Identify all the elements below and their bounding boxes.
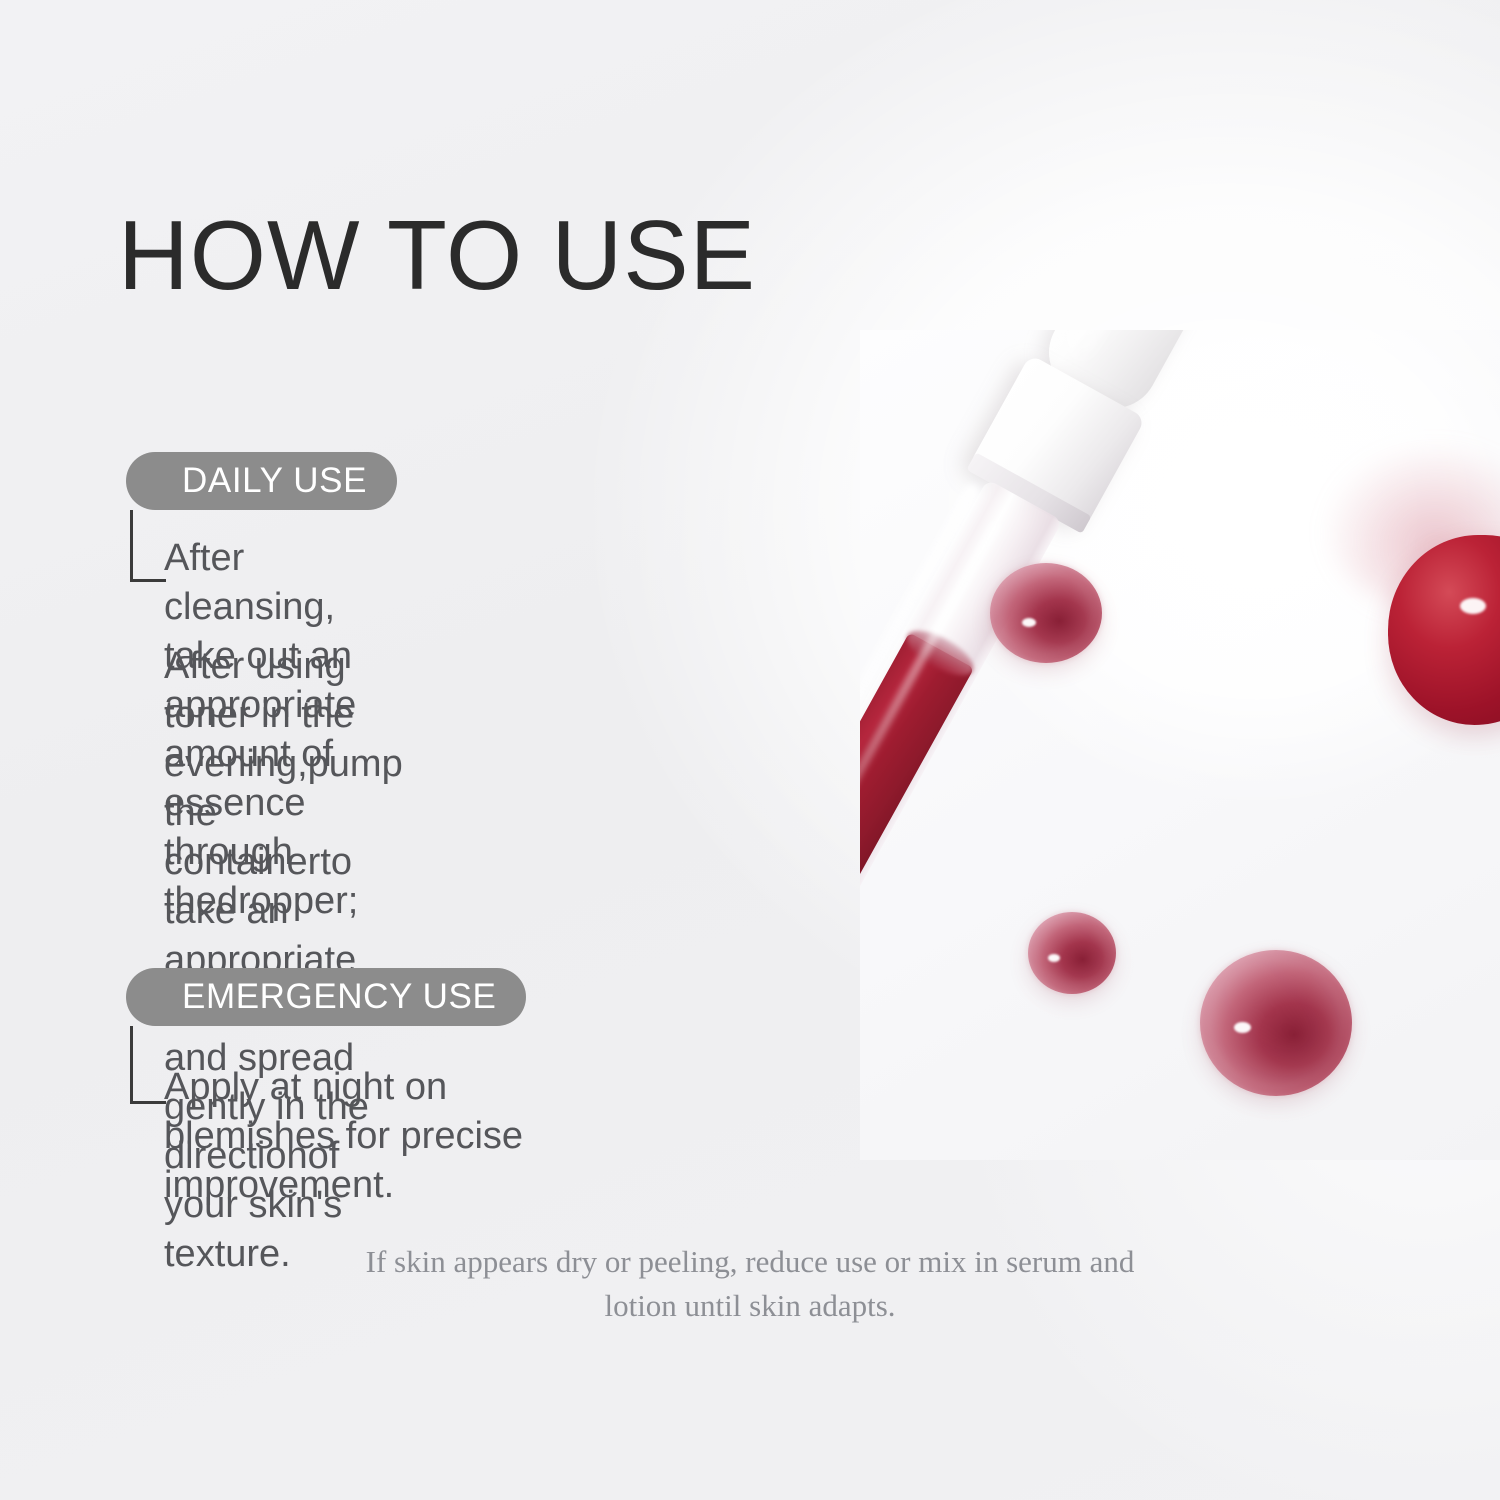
section-daily-use: DAILY USE After cleansing, take out an a… xyxy=(126,452,397,510)
section-label-daily-use: DAILY USE xyxy=(126,452,397,510)
product-photo xyxy=(860,330,1500,1160)
serum-droplet-1-highlight xyxy=(1022,618,1036,627)
footnote-text: If skin appears dry or peeling, reduce u… xyxy=(0,1240,1500,1328)
serum-droplet-3 xyxy=(1200,950,1352,1096)
section-label-emergency-use: EMERGENCY USE xyxy=(126,968,526,1026)
serum-blob-right-highlight xyxy=(1460,598,1486,614)
serum-droplet-1 xyxy=(990,563,1102,663)
bracket-icon-emergency-use xyxy=(130,1026,166,1104)
how-to-use-page: HOW TO USE DAILY USE After cleansing, ta… xyxy=(0,0,1500,1500)
bracket-icon-daily-use xyxy=(130,510,166,582)
page-title: HOW TO USE xyxy=(118,206,756,304)
emergency-use-paragraph-1: Apply at night on blemishes for precise … xyxy=(164,1063,526,1210)
serum-droplet-2-highlight xyxy=(1048,954,1060,962)
section-emergency-use: EMERGENCY USE Apply at night on blemishe… xyxy=(126,968,526,1026)
serum-droplet-3-highlight xyxy=(1234,1022,1251,1033)
serum-droplet-2 xyxy=(1028,912,1116,994)
